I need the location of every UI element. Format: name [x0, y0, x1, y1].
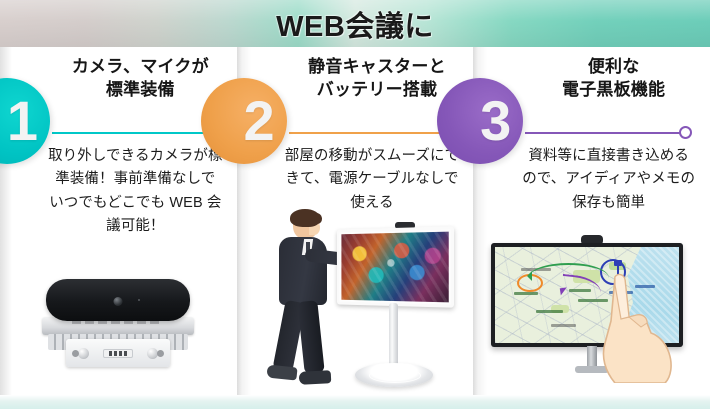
feature-heading-1: カメラ、マイクが 標準装備	[52, 55, 229, 102]
feature-columns: 1 カメラ、マイクが 標準装備 取り外しできるカメラが標準装備！事前準備なしでい…	[0, 47, 710, 395]
step-badge-2: 2	[201, 78, 287, 164]
camera-lens-icon	[114, 297, 123, 306]
feature-image-2	[237, 235, 474, 395]
camera-knob-left	[78, 348, 89, 359]
page-title: WEB会議に	[0, 0, 710, 47]
figure-shoe-back	[266, 364, 297, 380]
footer-strip	[0, 395, 710, 409]
camera-button-left	[72, 350, 79, 357]
camera-control-panel	[66, 339, 170, 367]
feature-heading-3: 便利な 電子黒板機能	[525, 55, 702, 102]
camera-button-right	[157, 350, 164, 357]
map-label-2	[536, 310, 564, 313]
pointing-hand-icon	[585, 271, 679, 383]
stand-pole	[389, 303, 398, 369]
map-label-8	[551, 324, 577, 327]
feature-heading-2-line2: バッテリー搭載	[289, 78, 466, 101]
stand-base	[355, 363, 433, 387]
divider-line-3	[525, 132, 681, 134]
feature-heading-2: 静音キャスターと バッテリー搭載	[289, 55, 466, 102]
step-number-2: 2	[244, 93, 275, 149]
feature-body-2: 部屋の移動がスムーズにできて、電源ケーブルなしで使える	[285, 145, 460, 215]
camera-mic-pinhole	[138, 299, 140, 301]
feature-image-1	[0, 235, 237, 395]
figure-shoe-front	[298, 370, 331, 385]
feature-heading-2-line1: 静音キャスターと	[289, 55, 466, 78]
mobile-display-stand	[333, 219, 453, 387]
conference-camera-device-icon	[38, 277, 198, 369]
map-label-1	[514, 292, 538, 295]
divider-rule-1	[52, 126, 219, 139]
step-number-3: 3	[480, 93, 511, 149]
step-number-1: 1	[7, 93, 38, 149]
man-moving-display-stand-icon	[237, 197, 474, 389]
feature-column-2: 2 静音キャスターと バッテリー搭載 部屋の移動がスムーズにできて、電源ケーブル…	[237, 47, 474, 395]
feature-column-3: 3 便利な 電子黒板機能 資料等に直接書き込めるので、アイディアやメモの保存も簡…	[473, 47, 710, 395]
display-screen-content	[341, 232, 448, 303]
feature-body-1: 取り外しできるカメラが標準装備！事前準備なしでいつでもどこでも WEB 会議可能…	[48, 145, 223, 239]
feature-body-3: 資料等に直接書き込めるので、アイディアやメモの保存も簡単	[521, 145, 696, 215]
step-badge-1: 1	[0, 78, 50, 164]
feature-image-3	[473, 235, 710, 395]
divider-end-dot-3	[679, 126, 692, 139]
feature-heading-3-line1: 便利な	[525, 55, 702, 78]
feature-column-1: 1 カメラ、マイクが 標準装備 取り外しできるカメラが標準装備！事前準備なしでい…	[0, 47, 237, 395]
display-screen	[337, 226, 454, 307]
feature-heading-1-line2: 標準装備	[52, 78, 229, 101]
divider-rule-2	[289, 126, 456, 139]
figure-leg-front	[297, 300, 324, 374]
camera-top-bar	[46, 279, 190, 321]
divider-line-2	[289, 132, 445, 134]
feature-heading-3-line2: 電子黒板機能	[525, 78, 702, 101]
whiteboard-display-with-hand-icon	[473, 235, 710, 383]
camera-led-indicators	[103, 349, 133, 358]
divider-line-1	[52, 132, 208, 134]
step-badge-3: 3	[437, 78, 523, 164]
divider-rule-3	[525, 126, 692, 139]
feature-heading-1-line1: カメラ、マイクが	[52, 55, 229, 78]
